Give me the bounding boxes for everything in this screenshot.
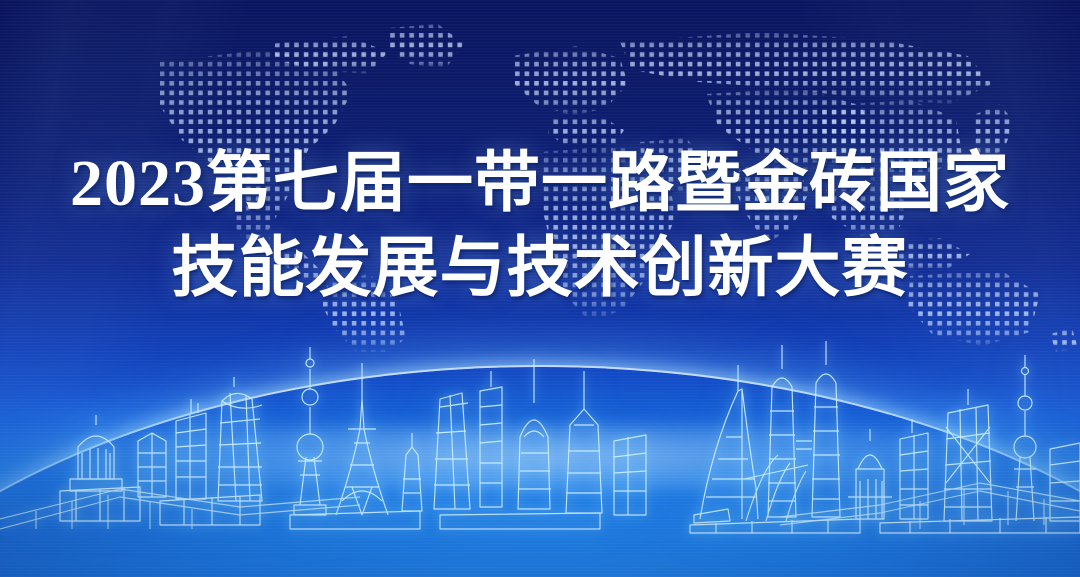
scanline-texture xyxy=(0,0,1080,577)
horizon-haze xyxy=(0,425,1080,491)
globe-horizon-arc xyxy=(0,367,1080,577)
banner-poster: 2023第七届一带一路暨金砖国家 技能发展与技术创新大赛 xyxy=(0,0,1080,577)
vignette-overlay xyxy=(0,0,1080,577)
dotted-world-map xyxy=(120,22,1080,352)
ground-glow xyxy=(0,387,1080,577)
title-line-2: 技能发展与技术创新大赛 xyxy=(0,233,1080,304)
world-landmarks-skyline xyxy=(0,329,1080,539)
globe-glow xyxy=(0,367,1080,577)
page-title: 2023第七届一带一路暨金砖国家 技能发展与技术创新大赛 xyxy=(0,148,1080,305)
diagonal-light-rays xyxy=(0,0,1080,577)
title-line-1: 2023第七届一带一路暨金砖国家 xyxy=(0,148,1080,219)
